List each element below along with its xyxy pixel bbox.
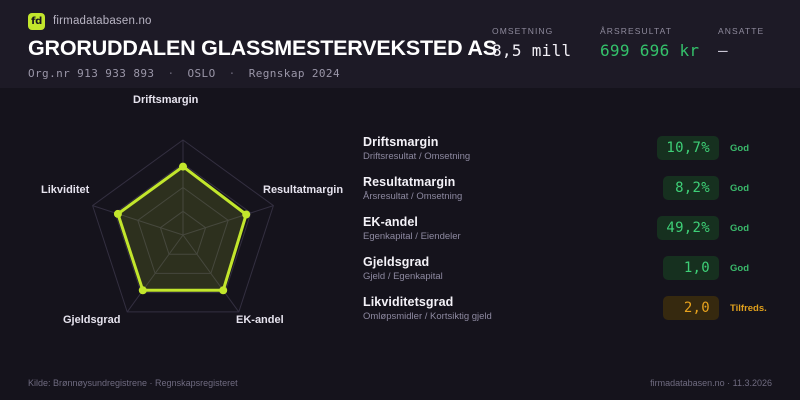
metric-right: 49,2% God [657,216,775,240]
radar-chart: Driftsmargin Resultatmargin EK-andel Gje… [0,88,355,358]
status-badge: God [719,143,775,154]
radar-data-point [179,163,187,171]
metric-row: EK-andel Egenkapital / Eiendeler 49,2% G… [363,208,775,248]
footer-site: firmadatabasen.no · 11.3.2026 [650,378,772,388]
meta-separator-1: · [161,67,180,80]
footer-source: Kilde: Brønnøysundregistrene · Regnskaps… [28,378,238,388]
stat-omsetning-value: 8,5 mill [492,41,600,60]
brand-name: firmadatabasen.no [53,15,152,27]
metric-right: 2,0 Tilfreds. [663,296,775,320]
metric-value-badge: 2,0 [663,296,719,320]
radar-data-point [139,286,147,294]
radar-label-ek-andel: EK-andel [236,314,284,326]
company-accounting-year: Regnskap 2024 [249,67,340,80]
metric-row: Likviditetsgrad Omløpsmidler / Kortsikti… [363,288,775,328]
metric-value-badge: 10,7% [657,136,719,160]
stat-arsresultat-value: 699 696 kr [600,41,718,60]
radar-data-point [114,210,122,218]
status-badge: God [719,223,775,234]
metric-row: Resultatmargin Årsresultat / Omsetning 8… [363,168,775,208]
metric-formula: Gjeld / Egenkapital [363,271,663,282]
metric-text: Likviditetsgrad Omløpsmidler / Kortsikti… [363,295,663,322]
radar-chart-svg [0,88,355,358]
stat-ansatte-value: – [718,41,774,60]
stat-ansatte: ANSATTE – [718,26,774,60]
metric-value-badge: 1,0 [663,256,719,280]
metric-formula: Årsresultat / Omsetning [363,191,663,202]
page-header: fd firmadatabasen.no GRORUDDALEN GLASSME… [0,0,800,88]
radar-data-point [219,286,227,294]
company-meta: Org.nr 913 933 893 · OSLO · Regnskap 202… [28,67,772,80]
metric-text: EK-andel Egenkapital / Eiendeler [363,215,657,242]
radar-label-driftsmargin: Driftsmargin [133,94,198,106]
company-city: OSLO [188,67,216,80]
metric-name: Gjeldsgrad [363,255,663,269]
meta-separator-2: · [223,67,242,80]
metric-row: Gjeldsgrad Gjeld / Egenkapital 1,0 God [363,248,775,288]
metric-text: Driftsmargin Driftsresultat / Omsetning [363,135,657,162]
radar-label-resultatmargin: Resultatmargin [263,184,343,196]
company-orgnr: Org.nr 913 933 893 [28,67,154,80]
stat-ansatte-label: ANSATTE [718,26,774,36]
status-badge: God [719,263,775,274]
stat-arsresultat: ÅRSRESULTAT 699 696 kr [600,26,718,60]
metric-row: Driftsmargin Driftsresultat / Omsetning … [363,128,775,168]
metric-right: 10,7% God [657,136,775,160]
metric-value-badge: 8,2% [663,176,719,200]
radar-label-likviditet: Likviditet [41,184,89,196]
metric-name: Driftsmargin [363,135,657,149]
metric-formula: Egenkapital / Eiendeler [363,231,657,242]
stat-omsetning: OMSETNING 8,5 mill [492,26,600,60]
metric-name: Resultatmargin [363,175,663,189]
stat-arsresultat-label: ÅRSRESULTAT [600,26,718,36]
metrics-list: Driftsmargin Driftsresultat / Omsetning … [363,128,775,328]
metric-name: Likviditetsgrad [363,295,663,309]
radar-label-gjeldsgrad: Gjeldsgrad [63,314,120,326]
radar-data-point [242,211,250,219]
metric-right: 8,2% God [663,176,775,200]
metric-text: Resultatmargin Årsresultat / Omsetning [363,175,663,202]
metric-value-badge: 49,2% [657,216,719,240]
fd-logo-icon: fd [28,13,45,30]
header-stats: OMSETNING 8,5 mill ÅRSRESULTAT 699 696 k… [492,26,774,60]
metric-formula: Driftsresultat / Omsetning [363,151,657,162]
metric-right: 1,0 God [663,256,775,280]
metric-formula: Omløpsmidler / Kortsiktig gjeld [363,311,663,322]
page-footer: Kilde: Brønnøysundregistrene · Regnskaps… [0,366,800,400]
status-badge: God [719,183,775,194]
metric-text: Gjeldsgrad Gjeld / Egenkapital [363,255,663,282]
status-badge: Tilfreds. [719,303,775,314]
metric-name: EK-andel [363,215,657,229]
stat-omsetning-label: OMSETNING [492,26,600,36]
